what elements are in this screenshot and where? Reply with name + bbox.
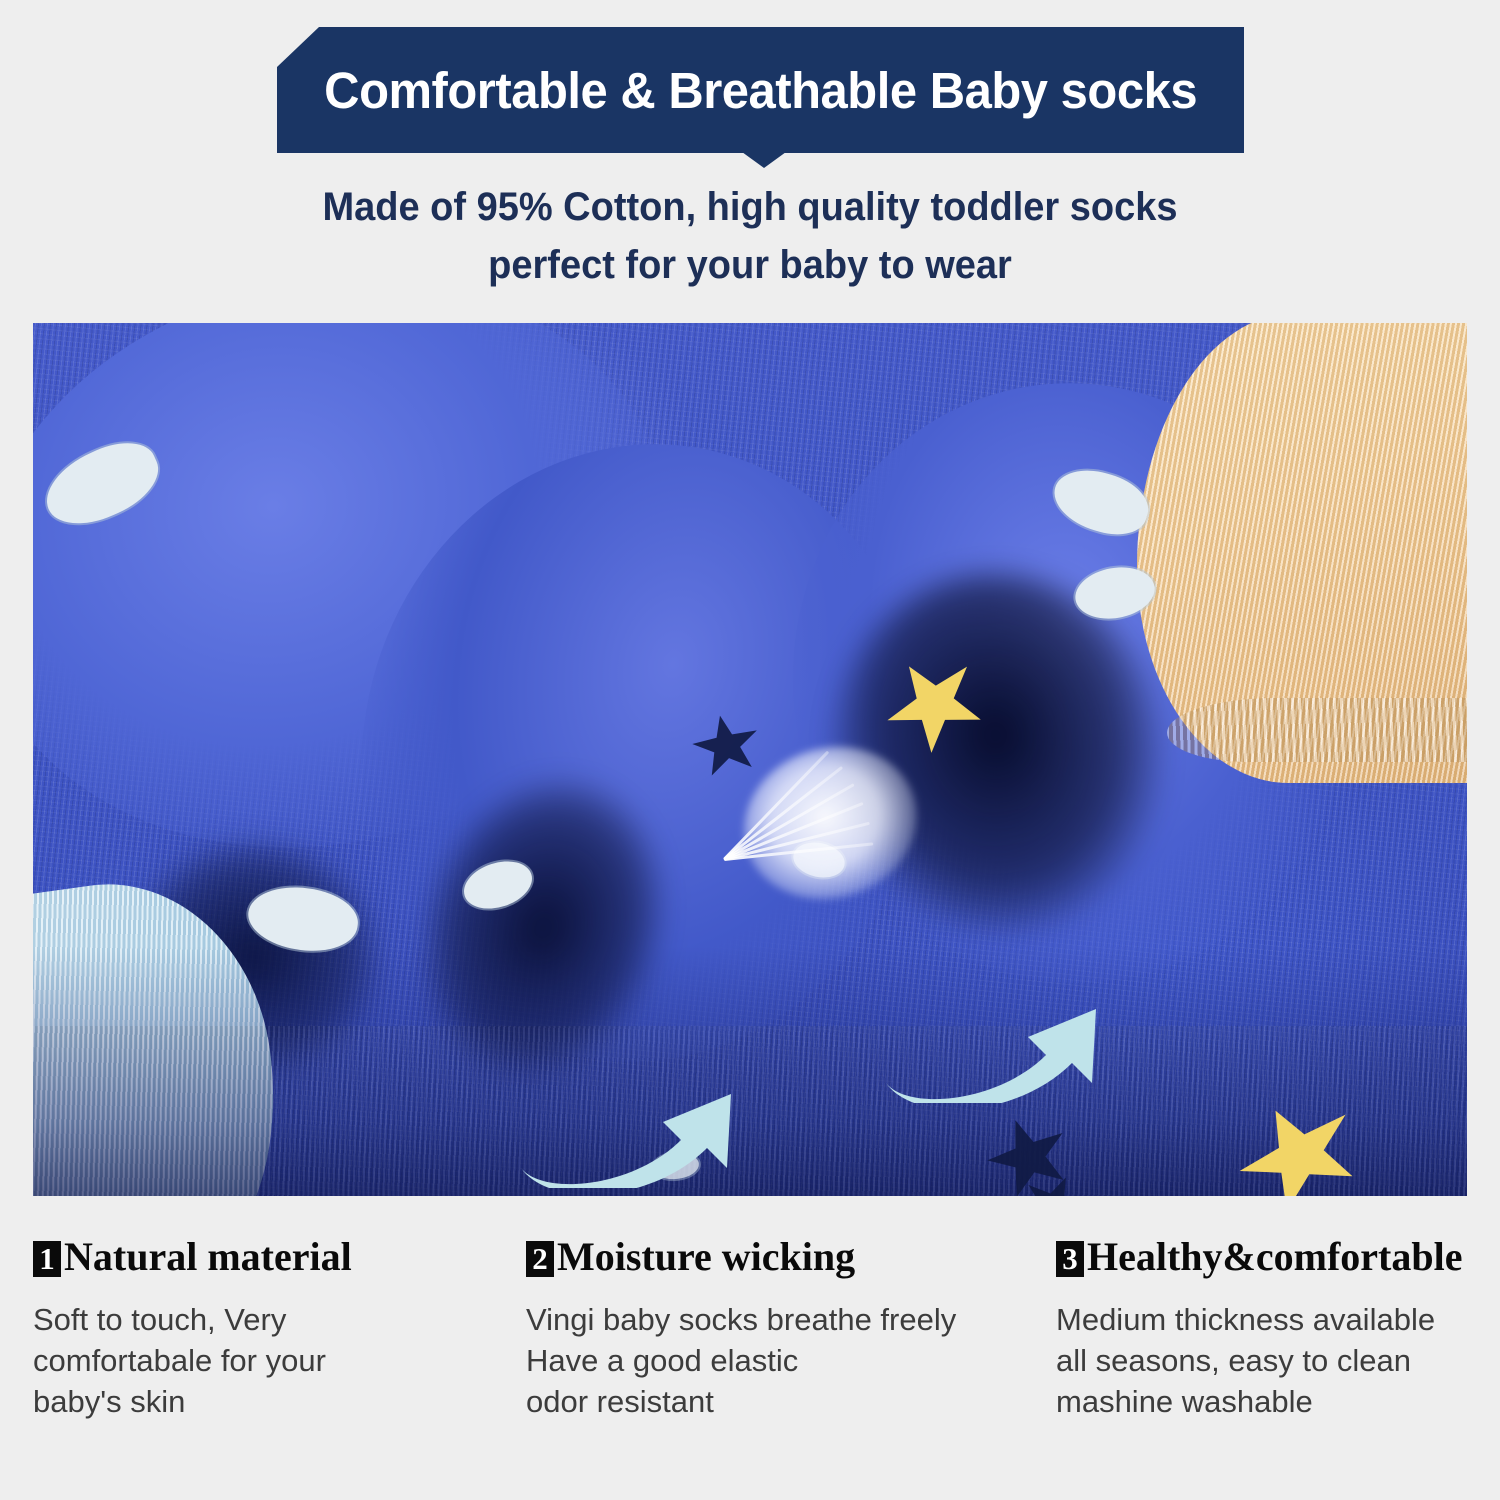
airflow-arrow-icon xyxy=(878,963,1168,1103)
feature-body-line: Soft to touch, Very xyxy=(33,1300,526,1341)
subtitle-line-1: Made of 95% Cotton, high quality toddler… xyxy=(38,178,1463,236)
airflow-arrow-icon xyxy=(513,1048,803,1188)
feature-column: 1 Natural material Soft to touch, Very c… xyxy=(33,1236,526,1423)
subtitle-block: Made of 95% Cotton, high quality toddler… xyxy=(0,178,1500,294)
feature-number-badge: 2 xyxy=(526,1241,554,1277)
feature-body: Soft to touch, Very comfortabale for you… xyxy=(33,1300,526,1423)
banner-title: Comfortable & Breathable Baby socks xyxy=(324,65,1197,116)
feature-body: Vingi baby socks breathe freely Have a g… xyxy=(526,1300,1056,1423)
banner-shape: Comfortable & Breathable Baby socks xyxy=(277,27,1244,153)
feature-body-line: Medium thickness available xyxy=(1056,1300,1467,1341)
photo-stage xyxy=(33,323,1467,1196)
feature-body: Medium thickness available all seasons, … xyxy=(1056,1300,1467,1423)
feature-column: 3 Healthy&comfortable Medium thickness a… xyxy=(1056,1236,1467,1423)
feature-title: Natural material xyxy=(64,1236,352,1278)
feature-body-line: mashine washable xyxy=(1056,1382,1467,1423)
feature-body-line: Vingi baby socks breathe freely xyxy=(526,1300,1056,1341)
feature-list: 1 Natural material Soft to touch, Very c… xyxy=(33,1236,1467,1423)
subtitle-line-2: perfect for your baby to wear xyxy=(38,236,1463,294)
feature-body-line: Have a good elastic xyxy=(526,1341,1056,1382)
feature-title: Healthy&comfortable xyxy=(1087,1236,1462,1278)
banner-pointer-triangle xyxy=(742,152,786,168)
feature-title: Moisture wicking xyxy=(557,1236,855,1278)
feature-heading: 1 Natural material xyxy=(33,1236,526,1278)
feature-column: 2 Moisture wicking Vingi baby socks brea… xyxy=(526,1236,1056,1423)
product-photo xyxy=(33,323,1467,1196)
feature-heading: 3 Healthy&comfortable xyxy=(1056,1236,1467,1278)
feature-body-line: baby's skin xyxy=(33,1382,526,1423)
feature-number-badge: 3 xyxy=(1056,1241,1084,1277)
feature-body-line: odor resistant xyxy=(526,1382,1056,1423)
peach-sock-cuff xyxy=(1167,698,1467,762)
feature-heading: 2 Moisture wicking xyxy=(526,1236,1056,1278)
feature-number-badge: 1 xyxy=(33,1241,61,1277)
header-banner: Comfortable & Breathable Baby socks xyxy=(277,27,1244,153)
feature-body-line: all seasons, easy to clean xyxy=(1056,1341,1467,1382)
feature-body-line: comfortabale for your xyxy=(33,1341,526,1382)
